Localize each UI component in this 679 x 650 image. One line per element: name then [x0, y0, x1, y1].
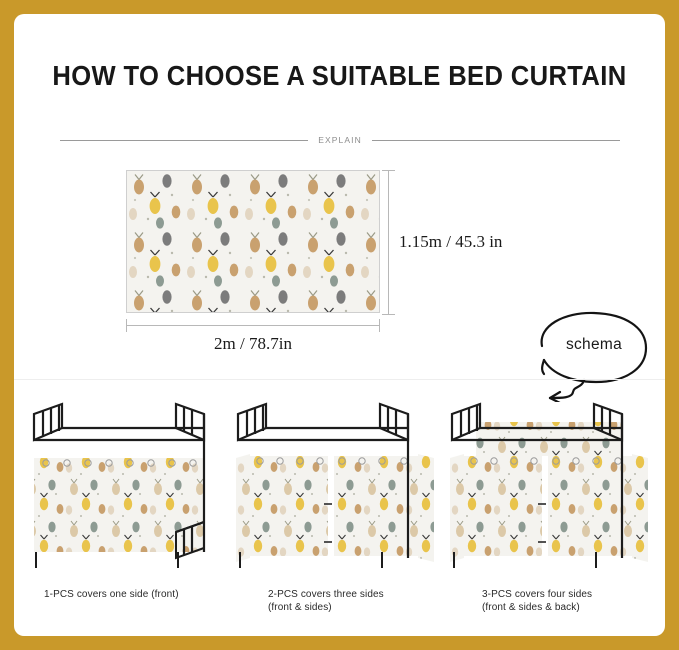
- curtain-panel-front-right: [548, 456, 632, 556]
- curtain-panel-side-left: [450, 454, 464, 562]
- width-dimension-label: 2m / 78.7in: [126, 334, 380, 354]
- width-dimension-line: [126, 325, 380, 326]
- curtain-panel-front: [34, 458, 204, 552]
- content-card: HOW TO CHOOSE A SUITABLE BED CURTAIN EXP…: [14, 14, 665, 636]
- diagram-bunk-2pcs: [236, 392, 448, 568]
- width-dimension-tick-left: [126, 319, 127, 332]
- diagram-bunk-3pcs: [450, 392, 662, 568]
- infographic-page: HOW TO CHOOSE A SUITABLE BED CURTAIN EXP…: [0, 0, 679, 650]
- curtain-panel-front-right: [334, 456, 418, 556]
- curtain-panel-side-right: [418, 454, 434, 562]
- height-dimension-label: 1.15m / 45.3 in: [399, 232, 502, 252]
- curtain-panel-side-right: [632, 454, 648, 562]
- explain-divider: EXPLAIN: [60, 132, 620, 148]
- caption-1pcs: 1-PCS covers one side (front): [44, 588, 179, 601]
- schema-label: schema: [556, 336, 632, 354]
- height-dimension-line: [388, 170, 389, 315]
- curtain-panel-front-left: [250, 456, 328, 556]
- width-dimension-tick-right: [379, 319, 380, 332]
- page-title: HOW TO CHOOSE A SUITABLE BED CURTAIN: [37, 60, 642, 92]
- caption-3pcs: 3-PCS covers four sides (front & sides &…: [482, 588, 592, 614]
- schema-callout: schema: [522, 302, 662, 402]
- height-dimension-tick-top: [382, 170, 395, 171]
- section-hairline: [14, 379, 665, 380]
- divider-rule-right: [372, 140, 620, 141]
- caption-2pcs: 2-PCS covers three sides (front & sides): [268, 588, 384, 614]
- curtain-panel-front-left: [464, 456, 542, 556]
- divider-label: EXPLAIN: [318, 135, 362, 145]
- height-dimension-tick-bottom: [382, 314, 395, 315]
- diagram-bunk-1pcs: [22, 392, 234, 568]
- divider-rule-left: [60, 140, 308, 141]
- curtain-panel-side-left: [236, 454, 250, 562]
- fabric-swatch: [126, 170, 380, 313]
